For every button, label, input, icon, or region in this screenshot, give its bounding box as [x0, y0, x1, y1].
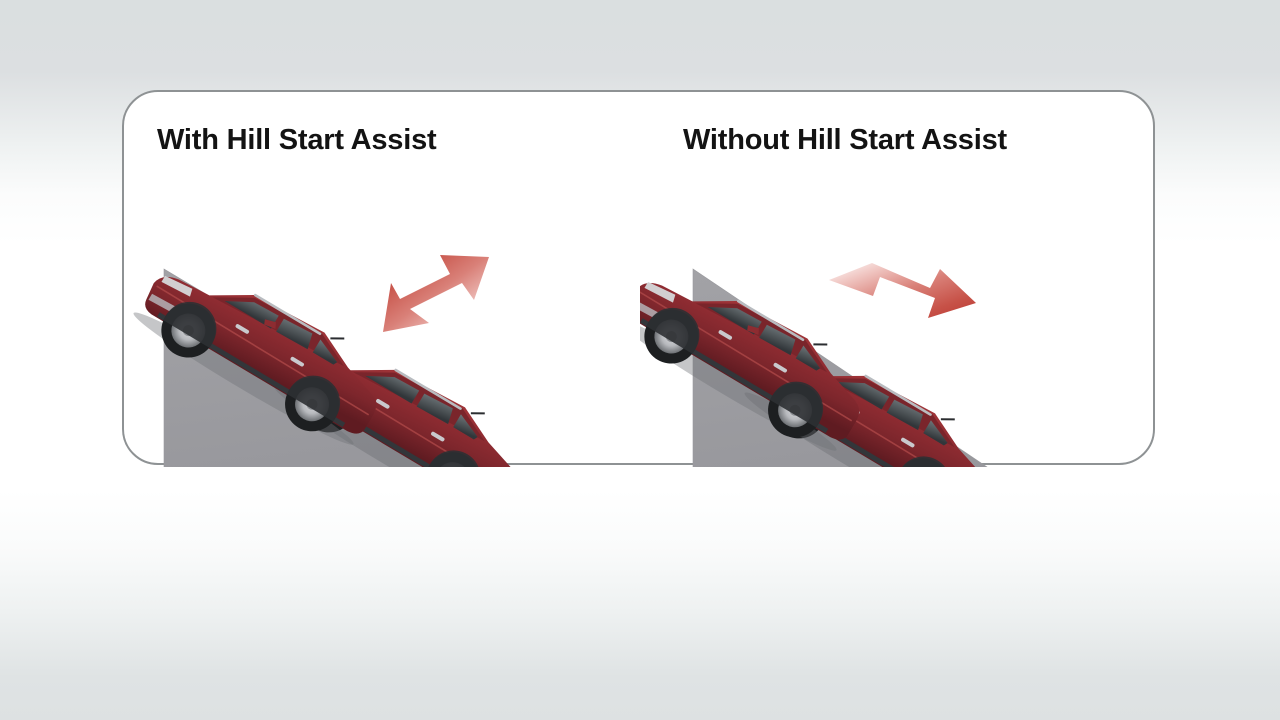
ramp-incline — [164, 269, 609, 467]
panel-without-hill-start-assist: Without Hill Start Assist — [640, 92, 1156, 467]
panel-with-hill-start-assist: With Hill Start Assist — [124, 92, 640, 467]
panel-title-with-hill-start-assist: With Hill Start Assist — [157, 124, 436, 157]
arrow-up-left-icon — [383, 255, 489, 332]
comparison-card: With Hill Start Assist — [122, 90, 1155, 465]
vehicle-suv-lower — [737, 320, 1010, 467]
panel-title-without-hill-start-assist: Without Hill Start Assist — [683, 124, 1007, 157]
vehicle-suv-upper — [126, 239, 399, 457]
scene-without-hill-start-assist — [640, 187, 1156, 467]
arrow-down-right-icon — [829, 263, 976, 318]
scene-with-hill-start-assist — [124, 187, 640, 467]
vehicle-suv-upper — [640, 245, 882, 463]
ramp-incline — [693, 269, 1088, 467]
vehicle-suv-lower — [267, 314, 540, 467]
